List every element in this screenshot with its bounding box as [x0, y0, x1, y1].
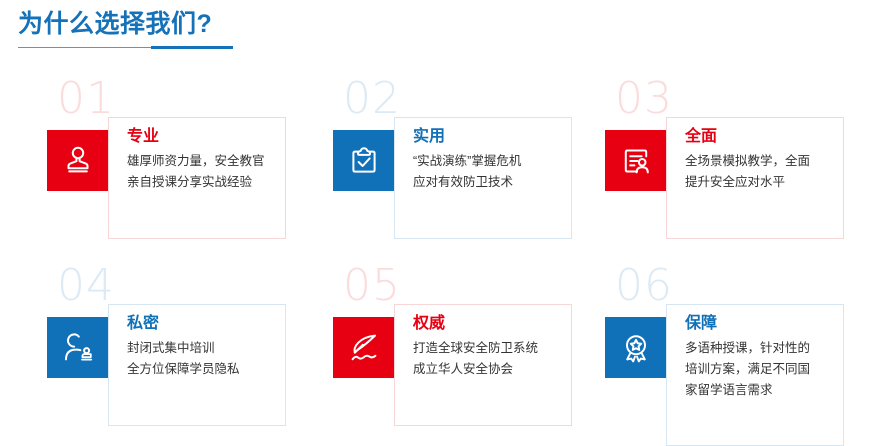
card-body: 私密 封闭式集中培训 全方位保障学员隐私 [127, 313, 292, 380]
card-number: 03 [615, 77, 673, 121]
card-title: 专业 [127, 126, 292, 148]
stamp-icon [61, 144, 95, 178]
card-number: 04 [57, 264, 115, 308]
card-body: 实用 “实战演练”掌握危机 应对有效防卫技术 [413, 126, 578, 193]
feature-card-04[interactable]: 04 私密 封闭式集中培训 全方位保障学员隐私 [47, 265, 297, 432]
medal-star-icon [619, 331, 653, 365]
icon-tile [605, 317, 666, 378]
id-document-person-icon [619, 144, 653, 178]
feature-card-06[interactable]: 06 保障 多语种授课，针对性的 培训方案，满足不同国 家留学语言需求 [605, 265, 855, 432]
icon-tile [333, 130, 394, 191]
card-description: 全场景模拟教学，全面 提升安全应对水平 [685, 151, 850, 193]
card-title: 全面 [685, 126, 850, 148]
title-underline [18, 46, 233, 49]
icon-tile [47, 130, 108, 191]
feature-card-03[interactable]: 03 全面 全场景模拟教学，全面 提升安全应对水平 [605, 78, 855, 245]
feature-card-05[interactable]: 05 权威 打造全球安全防卫系统 成立华人安全协会 [333, 265, 583, 432]
icon-tile [605, 130, 666, 191]
card-number: 01 [57, 77, 115, 121]
icon-tile [47, 317, 108, 378]
card-title: 实用 [413, 126, 578, 148]
card-description: 多语种授课，针对性的 培训方案，满足不同国 家留学语言需求 [685, 338, 850, 401]
person-privacy-icon [61, 331, 95, 365]
feature-card-02[interactable]: 02 实用 “实战演练”掌握危机 应对有效防卫技术 [333, 78, 583, 245]
underline-gray-segment [18, 47, 151, 48]
card-description: 打造全球安全防卫系统 成立华人安全协会 [413, 338, 578, 380]
icon-tile [333, 317, 394, 378]
card-body: 保障 多语种授课，针对性的 培训方案，满足不同国 家留学语言需求 [685, 313, 850, 401]
clipboard-check-icon [347, 144, 381, 178]
underline-blue-segment [151, 46, 233, 49]
card-number: 06 [615, 264, 673, 308]
card-title: 私密 [127, 313, 292, 335]
card-body: 全面 全场景模拟教学，全面 提升安全应对水平 [685, 126, 850, 193]
card-description: 雄厚师资力量，安全教官 亲自授课分享实战经验 [127, 151, 292, 193]
feature-card-grid: 01 专业 雄厚师资力量，安全教官 亲自授课分享实战经验 02 [0, 78, 871, 432]
page-title: 为什么选择我们? [18, 8, 418, 40]
quill-pen-icon [347, 331, 381, 365]
card-number: 05 [343, 264, 401, 308]
card-description: 封闭式集中培训 全方位保障学员隐私 [127, 338, 292, 380]
why-choose-us-section: 为什么选择我们? 01 专业 雄厚师资力量，安全教官 [0, 0, 871, 432]
section-header: 为什么选择我们? [18, 8, 418, 49]
card-description: “实战演练”掌握危机 应对有效防卫技术 [413, 151, 578, 193]
card-body: 权威 打造全球安全防卫系统 成立华人安全协会 [413, 313, 578, 380]
feature-card-01[interactable]: 01 专业 雄厚师资力量，安全教官 亲自授课分享实战经验 [47, 78, 297, 245]
card-body: 专业 雄厚师资力量，安全教官 亲自授课分享实战经验 [127, 126, 292, 193]
card-number: 02 [343, 77, 401, 121]
card-title: 保障 [685, 313, 850, 335]
card-title: 权威 [413, 313, 578, 335]
